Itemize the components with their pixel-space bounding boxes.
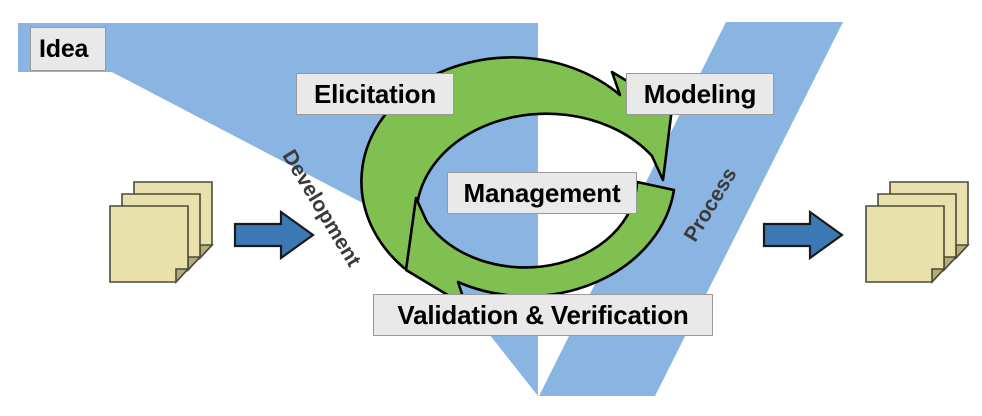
- diagram-canvas: Development Process Idea Elicitation Mod…: [0, 0, 982, 416]
- label-box-validation[interactable]: Validation & Verification: [373, 294, 713, 336]
- label-box-idea[interactable]: Idea: [30, 27, 106, 71]
- input-document-stack: [110, 182, 212, 282]
- output-arrow-icon: [764, 212, 842, 258]
- label-box-elicitation[interactable]: Elicitation: [296, 73, 454, 115]
- label-box-modeling[interactable]: Modeling: [626, 73, 774, 115]
- output-document-stack: [866, 182, 968, 282]
- input-arrow-icon: [235, 212, 313, 258]
- label-box-management[interactable]: Management: [447, 172, 637, 214]
